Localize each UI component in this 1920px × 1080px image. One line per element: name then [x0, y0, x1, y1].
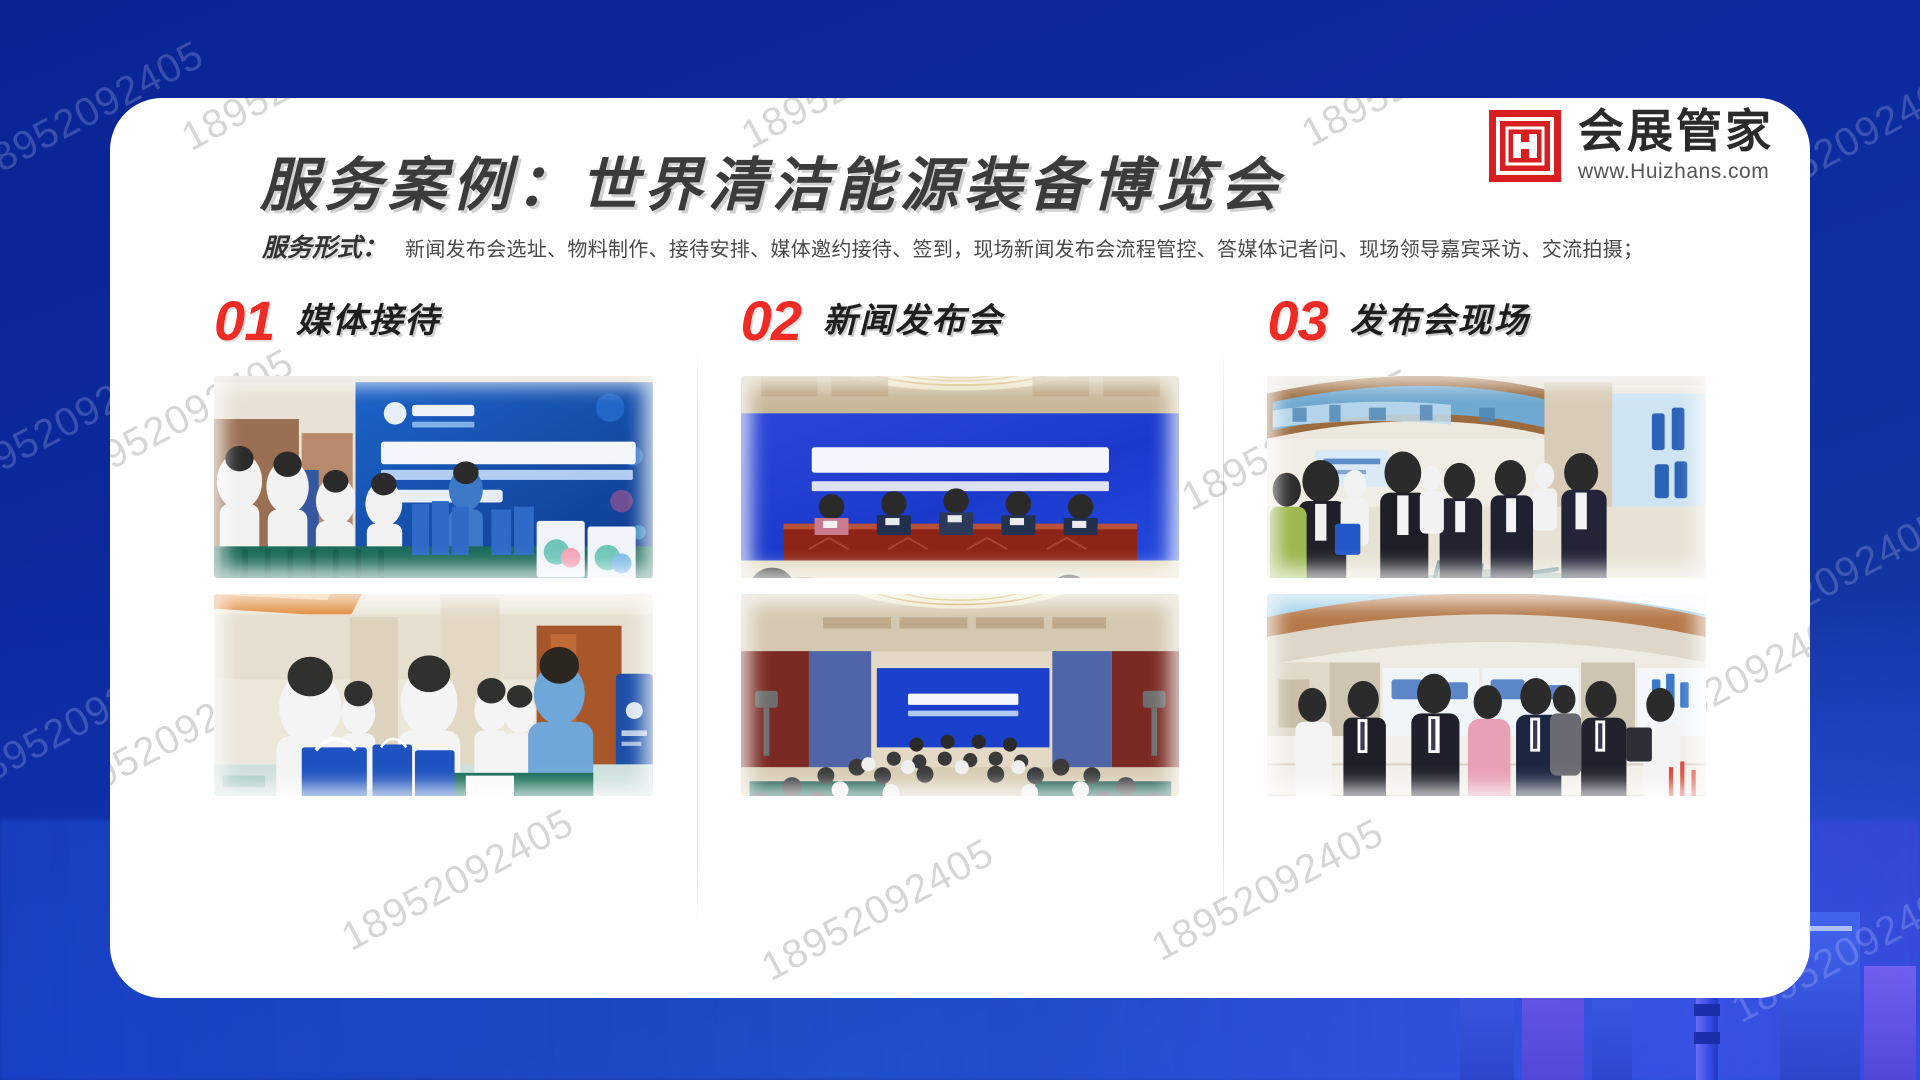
photo-media-reception-desk[interactable] [214, 376, 653, 578]
section-photos [214, 376, 653, 796]
photo-press-conference-hall-wide[interactable] [741, 594, 1180, 796]
section-heading: 01 媒体接待 [214, 288, 653, 354]
section-heading: 03 发布会现场 [1267, 288, 1706, 354]
logo-website-url: www.Huizhans.com [1578, 160, 1769, 184]
section-number: 01 [214, 293, 274, 349]
section-number: 02 [741, 293, 801, 349]
brand-logo[interactable]: 会展管家 www.Huizhans.com [1488, 108, 1774, 184]
section-03: 03 发布会现场 [1223, 288, 1750, 968]
content-card: 18952092405 18952092405 18952092405 1895… [110, 98, 1810, 998]
service-form-row: 服务形式： 新闻发布会选址、物料制作、接待安排、媒体邀约接待、签到，现场新闻发布… [262, 228, 1750, 264]
section-label: 媒体接待 [296, 304, 440, 338]
section-01: 01 媒体接待 [170, 288, 697, 968]
photo-press-conference-stage[interactable] [741, 376, 1180, 578]
service-form-label: 服务形式： [262, 228, 387, 264]
section-02: 02 新闻发布会 [697, 288, 1224, 968]
section-number: 03 [1267, 293, 1327, 349]
section-photos [741, 376, 1180, 796]
photo-checkin-material-handout[interactable] [214, 594, 653, 796]
section-heading: 02 新闻发布会 [741, 288, 1180, 354]
section-label: 新闻发布会 [823, 304, 1003, 338]
photo-group-photo-leaders[interactable] [1267, 594, 1706, 796]
sections-container: 01 媒体接待 [170, 288, 1750, 968]
section-label: 发布会现场 [1350, 304, 1530, 338]
logo-brand-name: 会展管家 [1578, 108, 1774, 154]
service-form-text: 新闻发布会选址、物料制作、接待安排、媒体邀约接待、签到，现场新闻发布会流程管控、… [405, 233, 1643, 262]
logo-text-block: 会展管家 www.Huizhans.com [1578, 108, 1774, 184]
huizhans-logo-icon [1488, 109, 1562, 183]
photo-leaders-touring-exhibition[interactable] [1267, 376, 1706, 578]
section-photos [1267, 376, 1706, 796]
